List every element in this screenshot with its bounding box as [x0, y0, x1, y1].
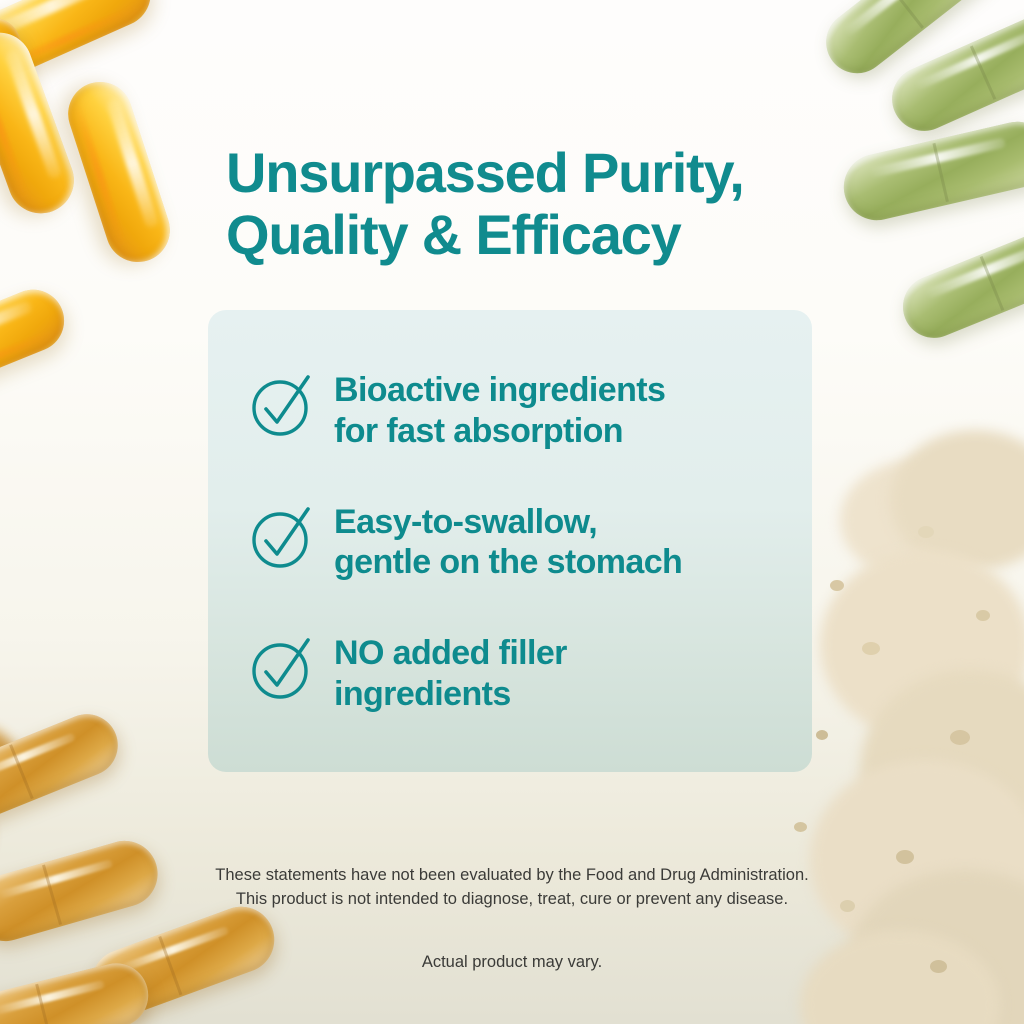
benefits-card: Bioactive ingredients for fast absorptio…	[208, 310, 812, 772]
turmeric-capsule	[0, 956, 155, 1024]
green-capsule	[894, 215, 1024, 347]
benefit-item-easy-to-swallow: Easy-to-swallow, gentle on the stomach	[246, 498, 772, 584]
check-circle-icon	[246, 500, 320, 574]
actual-product-note: Actual product may vary.	[212, 950, 812, 974]
benefit-item-bioactive: Bioactive ingredients for fast absorptio…	[246, 366, 772, 452]
softgel-capsule	[0, 5, 34, 126]
product-benefits-graphic: Unsurpassed Purity, Quality & Efficacy B…	[0, 0, 1024, 1024]
fda-disclaimer: These statements have not been evaluated…	[212, 863, 812, 912]
benefit-label: Bioactive ingredients for fast absorptio…	[334, 366, 665, 452]
turmeric-capsule	[0, 833, 165, 949]
decor-powder-pile-bottom-right	[800, 430, 1024, 1024]
green-capsule	[882, 0, 1024, 141]
green-capsule	[837, 115, 1024, 227]
softgel-capsule	[0, 0, 161, 88]
check-circle-icon	[246, 631, 320, 705]
check-circle-icon	[246, 368, 320, 442]
page-title: Unsurpassed Purity, Quality & Efficacy	[226, 142, 846, 267]
turmeric-capsule	[0, 705, 127, 829]
softgel-capsule	[60, 74, 178, 271]
softgel-capsule	[0, 280, 73, 401]
softgel-capsule	[0, 23, 83, 222]
decor-turmeric-capsules-bottom-left	[0, 690, 240, 1024]
benefit-label: Easy-to-swallow, gentle on the stomach	[334, 498, 682, 584]
benefit-label: NO added filler ingredients	[334, 629, 567, 715]
green-capsule	[814, 0, 1007, 86]
benefit-item-no-fillers: NO added filler ingredients	[246, 629, 772, 715]
